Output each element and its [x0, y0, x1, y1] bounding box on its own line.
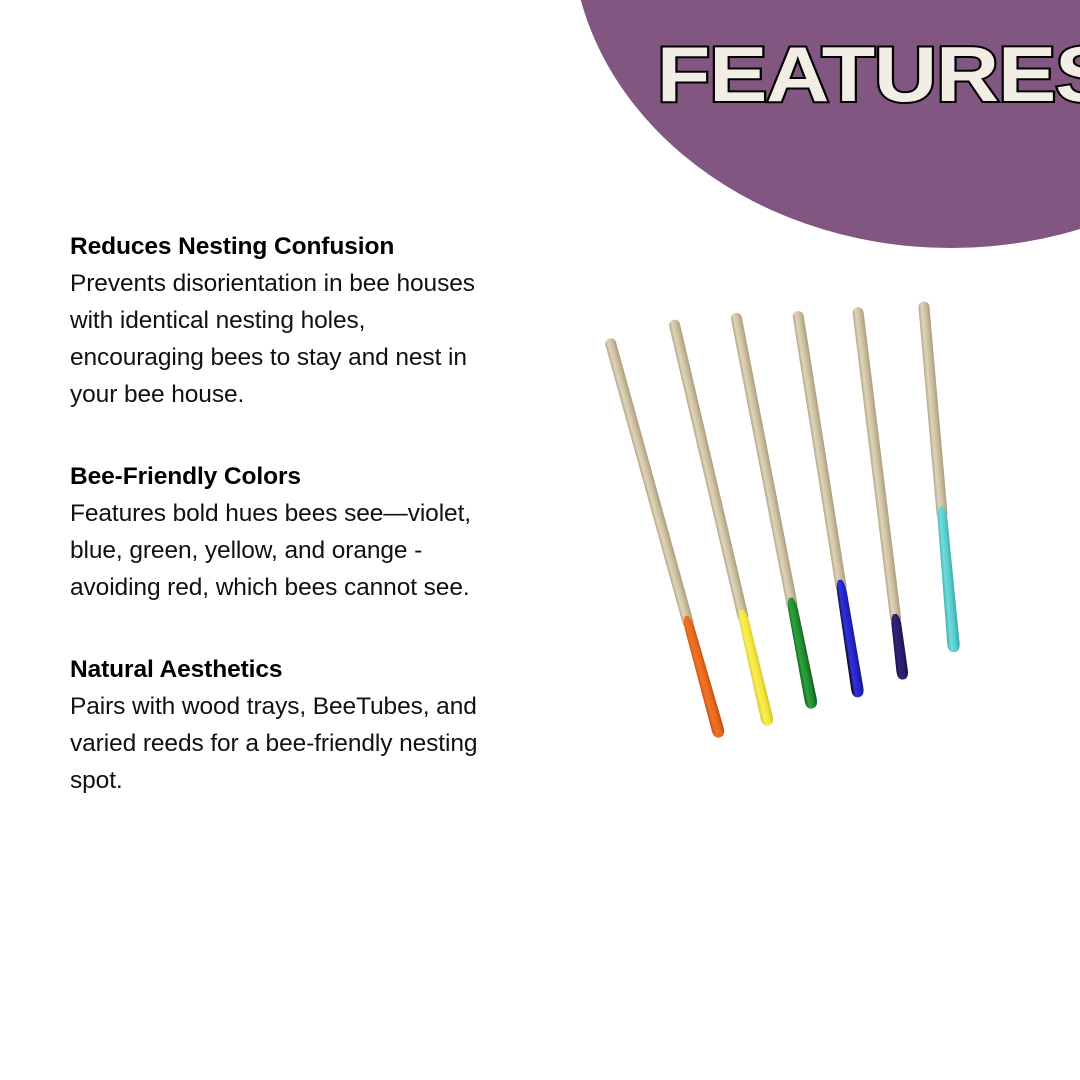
features-text-column: Reduces Nesting Confusion Prevents disor… [70, 228, 500, 799]
feature-body-3: Pairs with wood trays, BeeTubes, and var… [70, 688, 500, 799]
product-image [560, 300, 1060, 770]
poster-canvas: FEATURES Reduces Nesting Confusion Preve… [0, 0, 1080, 1080]
feature-heading-3: Natural Aesthetics [70, 651, 500, 688]
feature-heading-1: Reduces Nesting Confusion [70, 228, 500, 265]
stick-teal [917, 301, 960, 653]
feature-block-2: Bee-Friendly Colors Features bold hues b… [70, 458, 500, 606]
page-title: FEATURES [655, 34, 1080, 114]
stick-navy [852, 307, 909, 681]
feature-body-2: Features bold hues bees see—violet, blue… [70, 495, 500, 606]
feature-block-3: Natural Aesthetics Pairs with wood trays… [70, 651, 500, 799]
feature-block-1: Reduces Nesting Confusion Prevents disor… [70, 228, 500, 413]
stick-orange [603, 337, 725, 739]
feature-heading-2: Bee-Friendly Colors [70, 458, 500, 495]
feature-body-1: Prevents disorientation in bee houses wi… [70, 265, 500, 413]
stick-yellow [667, 318, 774, 727]
